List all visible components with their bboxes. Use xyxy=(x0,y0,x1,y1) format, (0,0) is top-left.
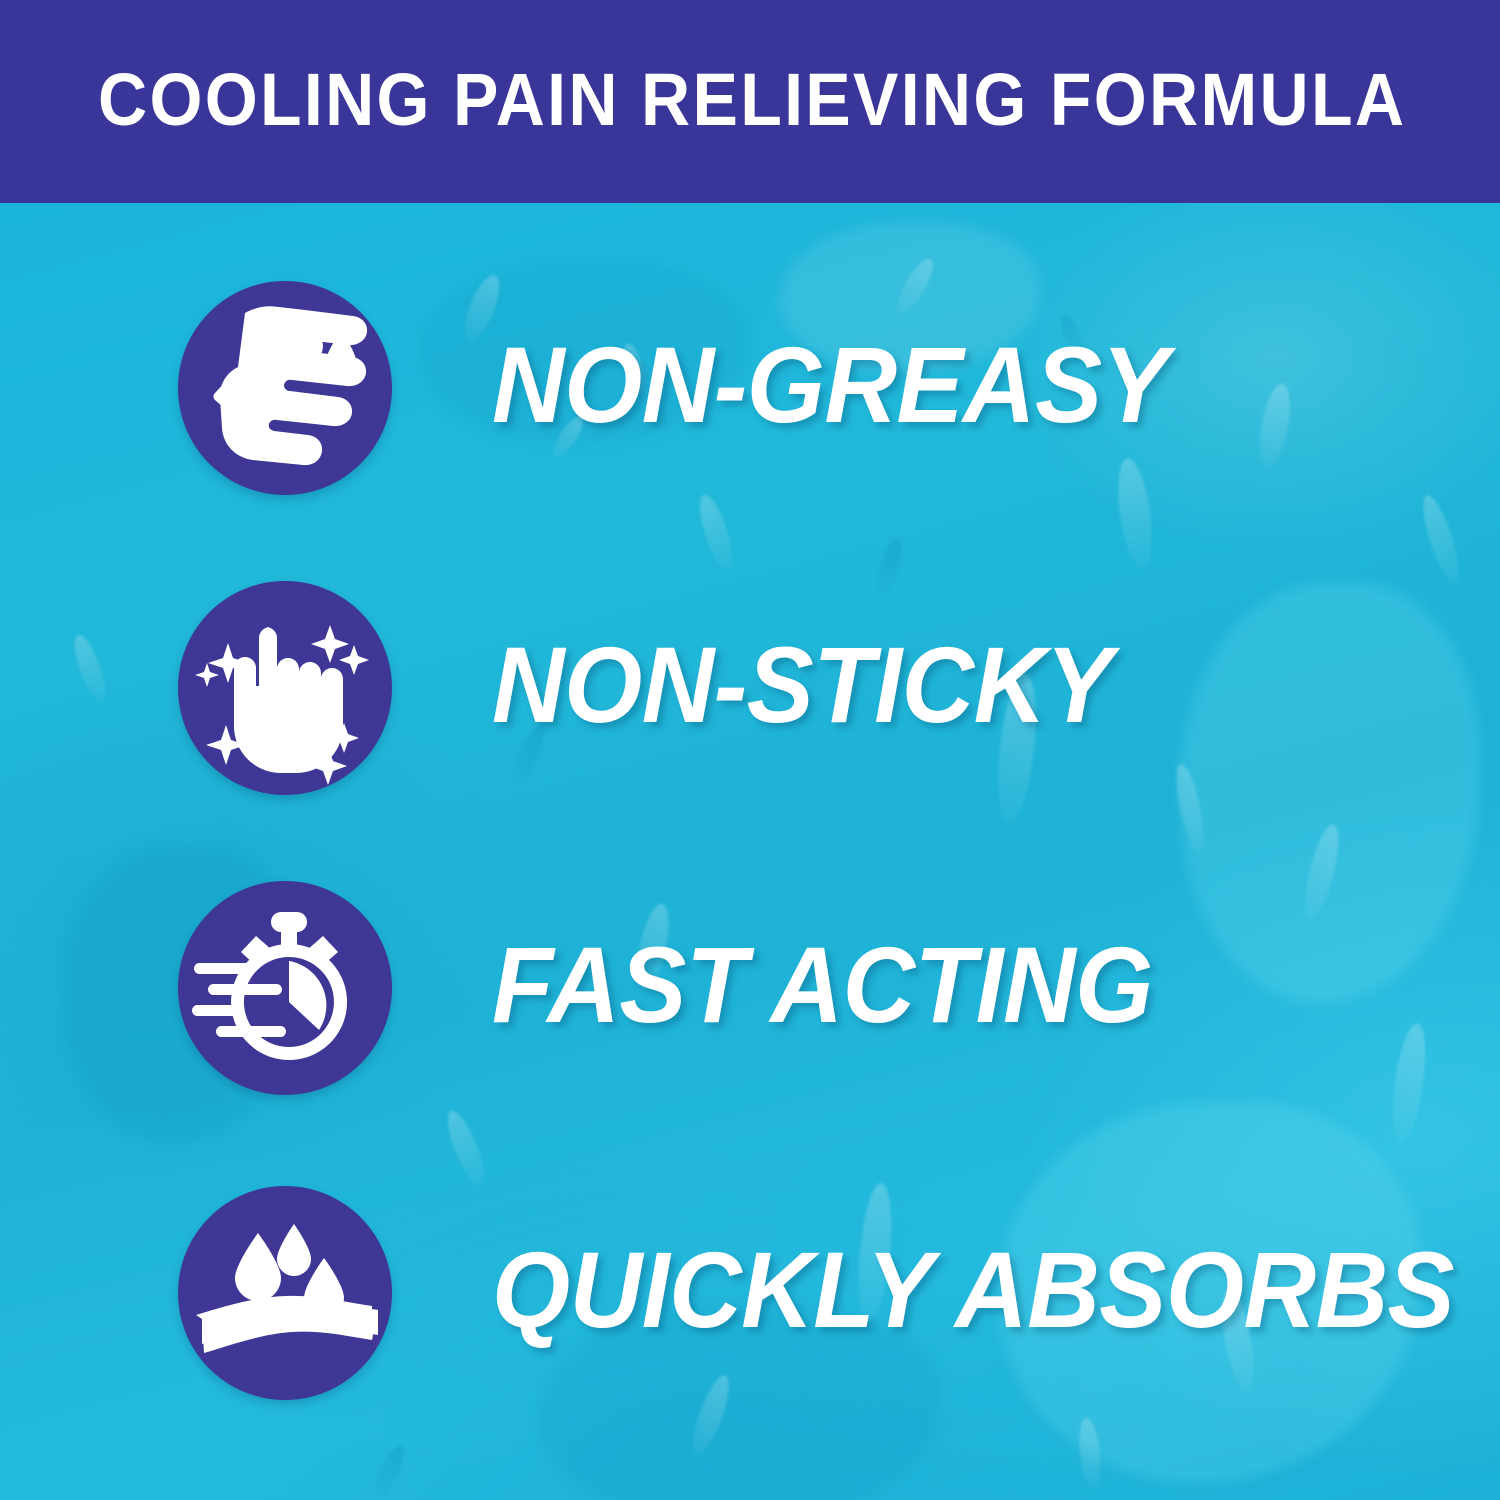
feature-row: QUICKLY ABSORBS xyxy=(0,1183,1500,1403)
feature-label: FAST ACTING xyxy=(492,878,1153,1092)
page-title: COOLING PAIN RELIEVING FORMULA xyxy=(98,50,1322,150)
icon-badge-non-sticky xyxy=(178,581,392,795)
feature-label: QUICKLY ABSORBS xyxy=(492,1183,1454,1397)
feature-label: NON-GREASY xyxy=(492,278,1168,492)
feature-row: NON-GREASY xyxy=(0,278,1500,498)
infographic-page: COOLING PAIN RELIEVING FORMULA xyxy=(0,0,1500,1500)
speeding-stopwatch-icon xyxy=(178,881,392,1095)
icon-badge-non-greasy xyxy=(178,281,392,495)
feature-label: NON-STICKY xyxy=(492,578,1112,792)
washing-hands-droplets-icon xyxy=(178,281,392,495)
icon-badge-quickly-absorbs xyxy=(178,1186,392,1400)
feature-row: FAST ACTING xyxy=(0,878,1500,1098)
clean-hand-sparkles-icon xyxy=(178,581,392,795)
droplets-absorbing-surface-icon xyxy=(178,1186,392,1400)
feature-row: NON-STICKY xyxy=(0,578,1500,798)
icon-badge-fast-acting xyxy=(178,881,392,1095)
header-bar: COOLING PAIN RELIEVING FORMULA xyxy=(0,0,1500,203)
